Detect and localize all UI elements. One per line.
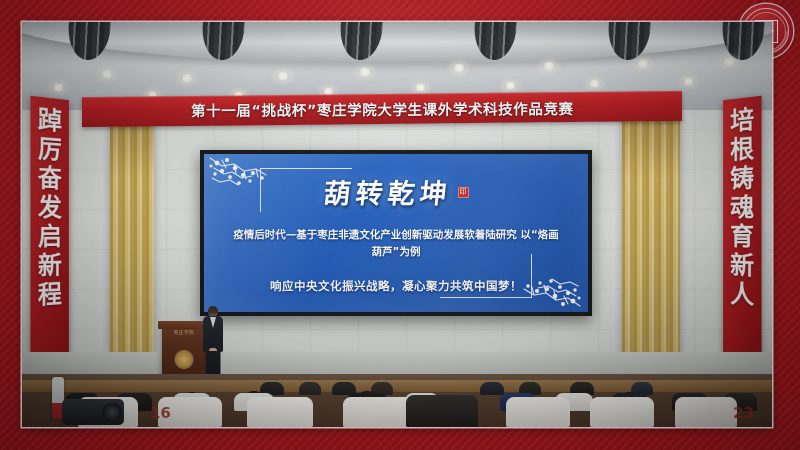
audience-body [406, 395, 478, 427]
bench-row-back [22, 380, 772, 392]
banner-right-char: 新 [730, 251, 754, 281]
audience-body [590, 397, 654, 427]
slide-title: 葫转乾坤 [321, 172, 453, 211]
projection-screen: 葫转乾坤 印 疫情后时代—基于枣庄非遗文化产业创新驱动发展软着陆研究 以“烙画葫… [200, 150, 592, 316]
banner-right-char: 铸 [730, 163, 754, 193]
banner-right-char: 育 [730, 222, 754, 251]
vertical-banner-right: 培 根 铸 魂 育 新 人 [723, 96, 761, 361]
seat-number: 23 [733, 404, 754, 422]
ceiling-light-icon [100, 70, 114, 78]
stage-curtain-right [622, 108, 680, 358]
ceiling-light-icon [452, 64, 466, 72]
banner-left-char: 踔 [38, 105, 62, 136]
banner-left-char: 新 [38, 251, 62, 281]
banner-left-char: 启 [38, 222, 62, 251]
banner-left-char: 发 [38, 193, 62, 222]
vertical-banner-left: 踔 厉 奋 发 启 新 程 [30, 96, 68, 361]
screenshot-root: 田 [0, 0, 800, 450]
banner-right-char: 培 [730, 105, 754, 136]
audience-body [299, 382, 321, 395]
audience-body [506, 397, 570, 427]
ceiling-light-icon [414, 84, 427, 91]
ceiling-light-icon [542, 62, 556, 70]
ceiling-light-icon [276, 72, 290, 80]
banner-left-char: 程 [38, 279, 62, 309]
slide-subtitle: 疫情后时代—基于枣庄非遗文化产业创新驱动发展软着陆研究 以“烙画葫芦”为例 [231, 227, 561, 260]
ceiling-light-icon [358, 68, 372, 76]
audience-body [343, 397, 413, 427]
audience-seating: 16 23 [22, 374, 772, 427]
banner-left-char: 厉 [38, 134, 62, 165]
banner-right-char: 根 [730, 134, 754, 165]
video-camera [62, 399, 124, 425]
competition-banner: 第十一届“挑战杯”枣庄学院大学生课外学术科技作品竞赛 [82, 91, 682, 127]
slide-seal-icon: 印 [458, 187, 469, 198]
slide-slogan: 响应中央文化振兴战略，凝心聚力共筑中国梦！ [270, 278, 522, 294]
banner-right-char: 魂 [730, 193, 754, 222]
speaker-podium: 枣庄学院 [162, 325, 206, 381]
podium-label: 枣庄学院 [162, 330, 206, 336]
competition-banner-text: 第十一届“挑战杯”枣庄学院大学生课外学术科技作品竞赛 [191, 97, 574, 120]
ceiling-light-icon [636, 60, 650, 68]
ceiling-light-icon [52, 84, 65, 91]
ceiling-curved-panel [22, 22, 772, 64]
audience-body [675, 397, 737, 427]
podium-emblem-icon [176, 351, 193, 368]
ceiling-light-icon [504, 82, 517, 89]
ceiling-light-icon [722, 58, 736, 66]
ceiling-light-icon [180, 74, 194, 82]
slide-content: 葫转乾坤 印 疫情后时代—基于枣庄非遗文化产业创新驱动发展软着陆研究 以“烙画葫… [204, 154, 588, 312]
stage-curtain-left [110, 108, 154, 358]
event-photograph: 第十一届“挑战杯”枣庄学院大学生课外学术科技作品竞赛 踔 厉 奋 发 启 新 程… [22, 22, 772, 427]
ceiling-vent-icon [721, 22, 765, 60]
seat-number: 16 [150, 404, 171, 422]
banner-right-char: 人 [730, 279, 754, 309]
banner-left-char: 奋 [38, 163, 62, 193]
ceiling-light-icon [588, 80, 601, 87]
audience-body [247, 397, 313, 427]
ceiling-light-icon [682, 78, 695, 85]
slide-title-row: 葫转乾坤 印 [324, 172, 469, 213]
ceiling-vent-icon [67, 22, 111, 60]
audience-body [480, 382, 504, 395]
